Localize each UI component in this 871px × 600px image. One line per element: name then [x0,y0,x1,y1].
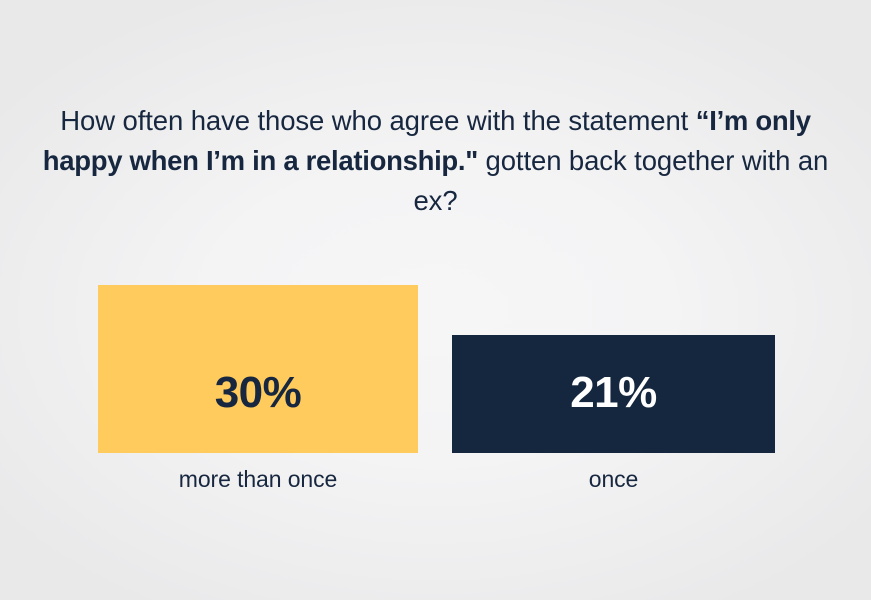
infographic-chart: How often have those who agree with the … [0,0,871,600]
bar-more-than-once: 30% [98,285,418,453]
bar-group-more-than-once: 30% more than once [98,285,418,453]
bar-once: 21% [452,335,775,453]
bar-label-more-than-once: more than once [179,466,337,493]
bar-chart-plot-area: 30% more than once 21% once [0,0,871,600]
bar-group-once: 21% once [452,335,775,453]
bar-label-once: once [589,466,638,493]
bar-value-once: 21% [452,371,775,415]
bar-value-more-than-once: 30% [98,371,418,415]
